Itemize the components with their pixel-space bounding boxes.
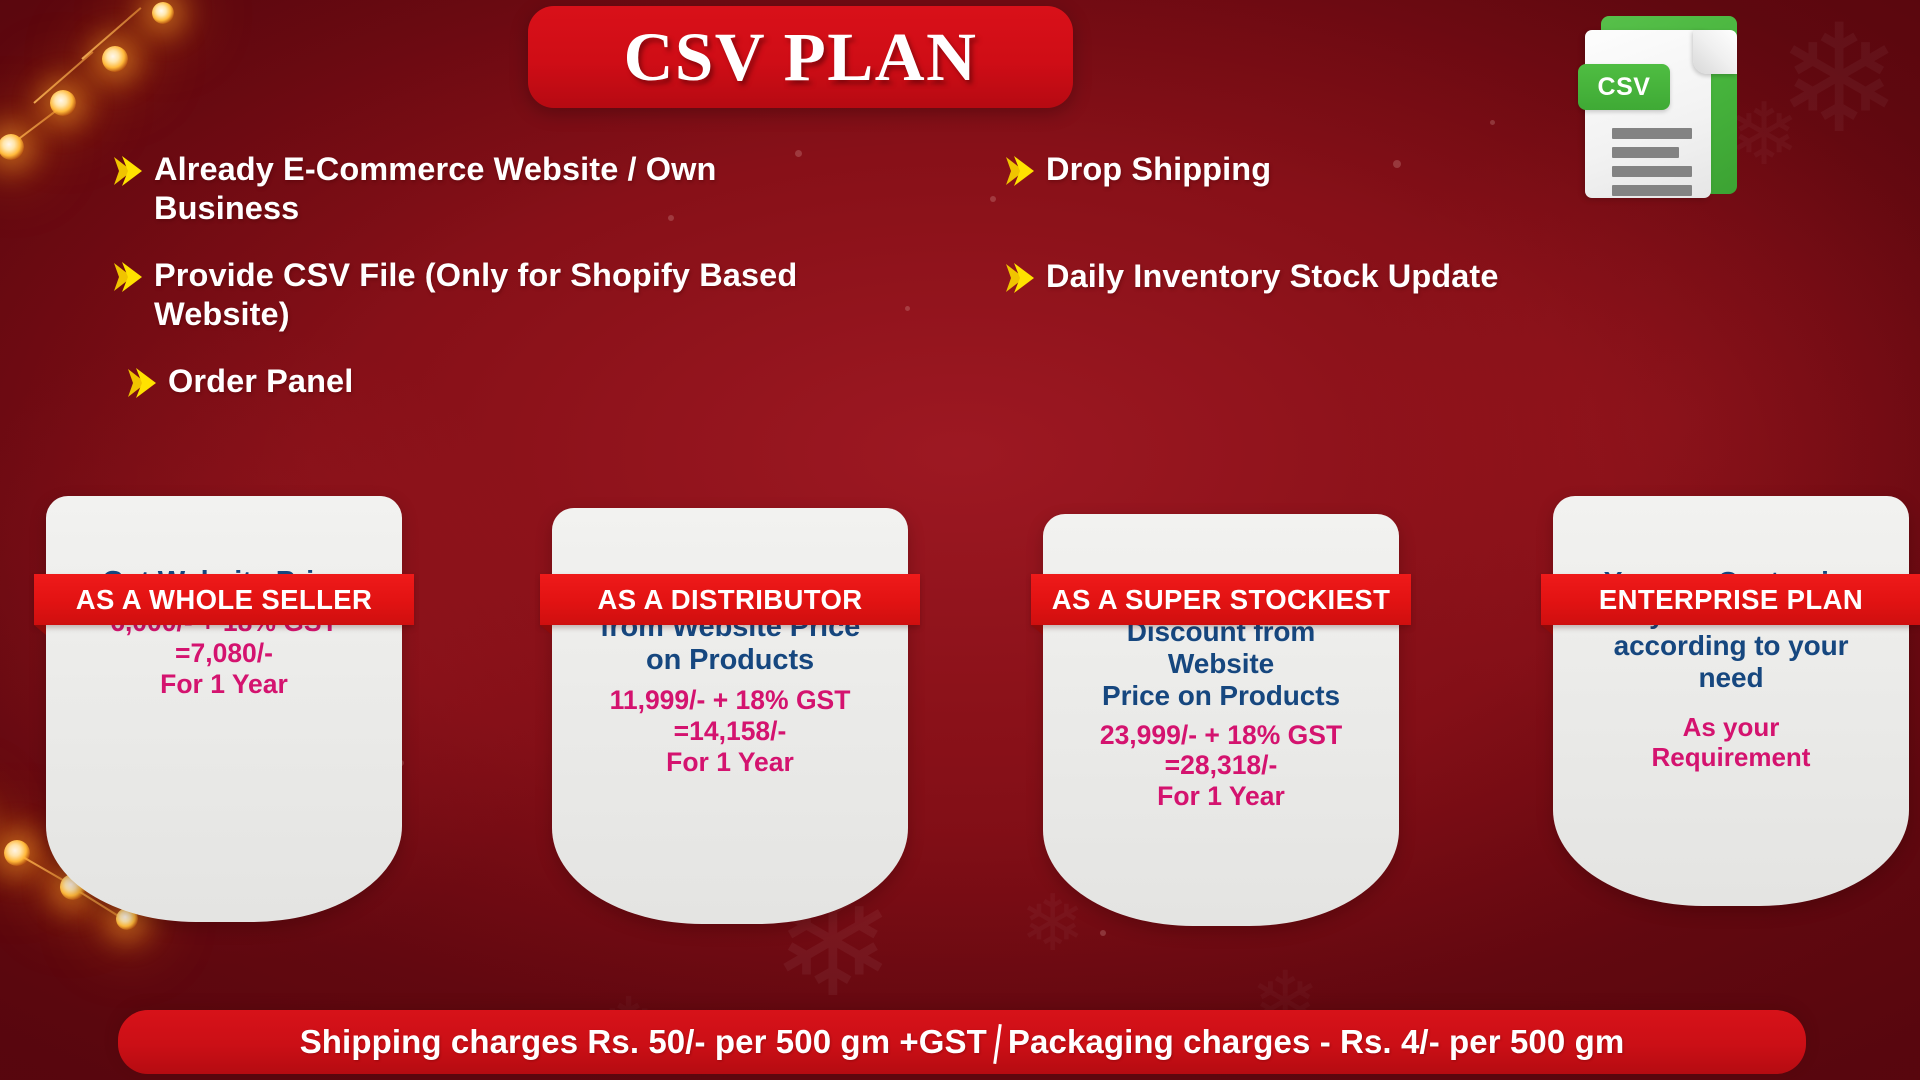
dust-speck: [1490, 120, 1495, 125]
feature-item: Daily Inventory Stock Update: [1000, 257, 1700, 298]
feature-label: Already E-Commerce Website / Own Busines…: [154, 150, 828, 228]
csv-icon-folded-corner: [1693, 30, 1737, 74]
pricing-card-distributor[interactable]: AS A DISTRIBUTOR Get 10% Discount from W…: [552, 508, 908, 924]
footer-separator: [993, 1024, 1002, 1064]
csv-icon-badge-label: CSV: [1598, 73, 1651, 102]
pricing-card-price: As your Requirement: [1571, 712, 1891, 772]
feature-item: Drop Shipping: [1000, 150, 1700, 191]
footer-banner: Shipping charges Rs. 50/- per 500 gm +GS…: [118, 1010, 1806, 1074]
feature-item: Already E-Commerce Website / Own Busines…: [108, 150, 828, 228]
feature-label: Order Panel: [168, 362, 353, 401]
pricing-card-ribbon: AS A DISTRIBUTOR: [540, 574, 920, 625]
pricing-card-super-stockiest[interactable]: AS A SUPER STOCKIEST Get Avg. 18% to 20%…: [1043, 514, 1399, 926]
pricing-card-body: You can Customize your service according…: [1553, 496, 1909, 772]
csv-icon-text-line: [1612, 128, 1692, 139]
csv-icon-badge: CSV: [1578, 64, 1670, 110]
pricing-card-price: 11,999/- + 18% GST =14,158/- For 1 Year: [570, 685, 890, 777]
pricing-card-body: Get Avg. 18% to 20% Discount from Websit…: [1043, 514, 1399, 812]
pricing-card-ribbon: ENTERPRISE PLAN: [1541, 574, 1920, 625]
page-title-banner: CSV PLAN: [528, 6, 1073, 108]
feature-column-right: Drop Shipping Daily Inventory Stock Upda…: [1000, 150, 1700, 326]
pricing-card-enterprise[interactable]: ENTERPRISE PLAN You can Customize your s…: [1553, 496, 1909, 906]
pricing-card-whole-seller[interactable]: AS A WHOLE SELLER Get Website Price 6,00…: [46, 496, 402, 922]
double-chevron-right-icon: [1000, 258, 1040, 298]
double-chevron-right-icon: [108, 257, 148, 297]
double-chevron-right-icon: [108, 151, 148, 191]
pricing-card-tier-label: AS A DISTRIBUTOR: [597, 584, 862, 616]
footer-shipping-text: Shipping charges Rs. 50/- per 500 gm +GS…: [300, 1023, 987, 1061]
feature-label: Drop Shipping: [1046, 150, 1271, 189]
double-chevron-right-icon: [122, 363, 162, 403]
pricing-card-tier-label: AS A SUPER STOCKIEST: [1052, 584, 1391, 616]
pricing-card-body: Get 10% Discount from Website Price on P…: [552, 508, 908, 777]
pricing-card-price: 23,999/- + 18% GST =28,318/- For 1 Year: [1061, 720, 1381, 812]
dust-speck: [1100, 930, 1106, 936]
dust-speck: [905, 306, 910, 311]
footer-packaging-text: Packaging charges - Rs. 4/- per 500 gm: [1008, 1023, 1624, 1061]
feature-label: Provide CSV File (Only for Shopify Based…: [154, 256, 828, 334]
page-title: CSV PLAN: [624, 18, 978, 97]
feature-column-left: Already E-Commerce Website / Own Busines…: [108, 150, 828, 431]
pricing-card-ribbon: AS A SUPER STOCKIEST: [1031, 574, 1411, 625]
double-chevron-right-icon: [1000, 151, 1040, 191]
feature-item: Order Panel: [122, 362, 828, 403]
dust-speck: [990, 196, 996, 202]
feature-item: Provide CSV File (Only for Shopify Based…: [108, 256, 828, 334]
feature-label: Daily Inventory Stock Update: [1046, 257, 1499, 296]
pricing-card-tier-label: ENTERPRISE PLAN: [1599, 584, 1863, 616]
pricing-card-ribbon: AS A WHOLE SELLER: [34, 574, 414, 625]
pricing-card-list: AS A WHOLE SELLER Get Website Price 6,00…: [0, 496, 1920, 916]
pricing-card-tier-label: AS A WHOLE SELLER: [76, 584, 373, 616]
snowflake-icon: ❄: [1728, 92, 1800, 178]
